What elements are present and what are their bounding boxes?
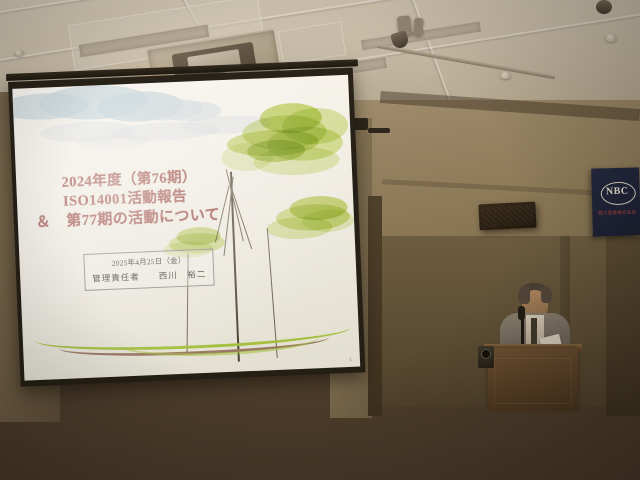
slide-page-number: 1 — [349, 357, 352, 363]
camera-lens-icon — [481, 349, 491, 359]
smoke-detector-icon — [500, 72, 511, 79]
podium-front-panel — [494, 358, 572, 404]
lighting-track — [377, 44, 555, 79]
camera-device — [478, 346, 494, 368]
presenter-hair — [541, 286, 552, 303]
ceiling-access-panel — [278, 21, 347, 65]
smoke-detector-icon — [605, 34, 617, 42]
presenter-hair — [518, 286, 530, 304]
foliage-blob — [302, 209, 355, 233]
projection-screen: 2024年度（第76期） ISO14001活動報告 ＆ 第77期の活動について … — [8, 68, 365, 387]
nbc-logo-text: NBC — [601, 186, 634, 198]
slide-info-name: 管理責任者 西川 裕二 — [91, 268, 207, 285]
presenter-necktie — [531, 318, 537, 344]
spotlight-mount — [413, 18, 423, 37]
slide-surface: 2024年度（第76期） ISO14001活動報告 ＆ 第77期の活動について … — [12, 75, 360, 381]
conference-room-photo: 2024年度（第76期） ISO14001活動報告 ＆ 第77期の活動について … — [0, 0, 640, 480]
ceiling-speaker-icon — [596, 0, 612, 14]
microphone-head-icon — [518, 306, 525, 320]
slide-info-box: 2025年4月25日（金） 管理責任者 西川 裕二 — [83, 249, 214, 291]
slide-info-date: 2025年4月25日（金） — [90, 254, 206, 270]
wall-side-panel — [606, 236, 640, 416]
podium — [488, 348, 578, 410]
nbc-banner: NBC 西川定発株式会社 — [591, 167, 640, 236]
screen-roller-arm — [368, 128, 390, 133]
smoke-detector-icon — [14, 50, 24, 56]
wall-recess-shadow — [368, 196, 382, 416]
nbc-banner-subtext: 西川定発株式会社 — [596, 209, 638, 216]
wall-speaker-icon — [478, 202, 536, 231]
